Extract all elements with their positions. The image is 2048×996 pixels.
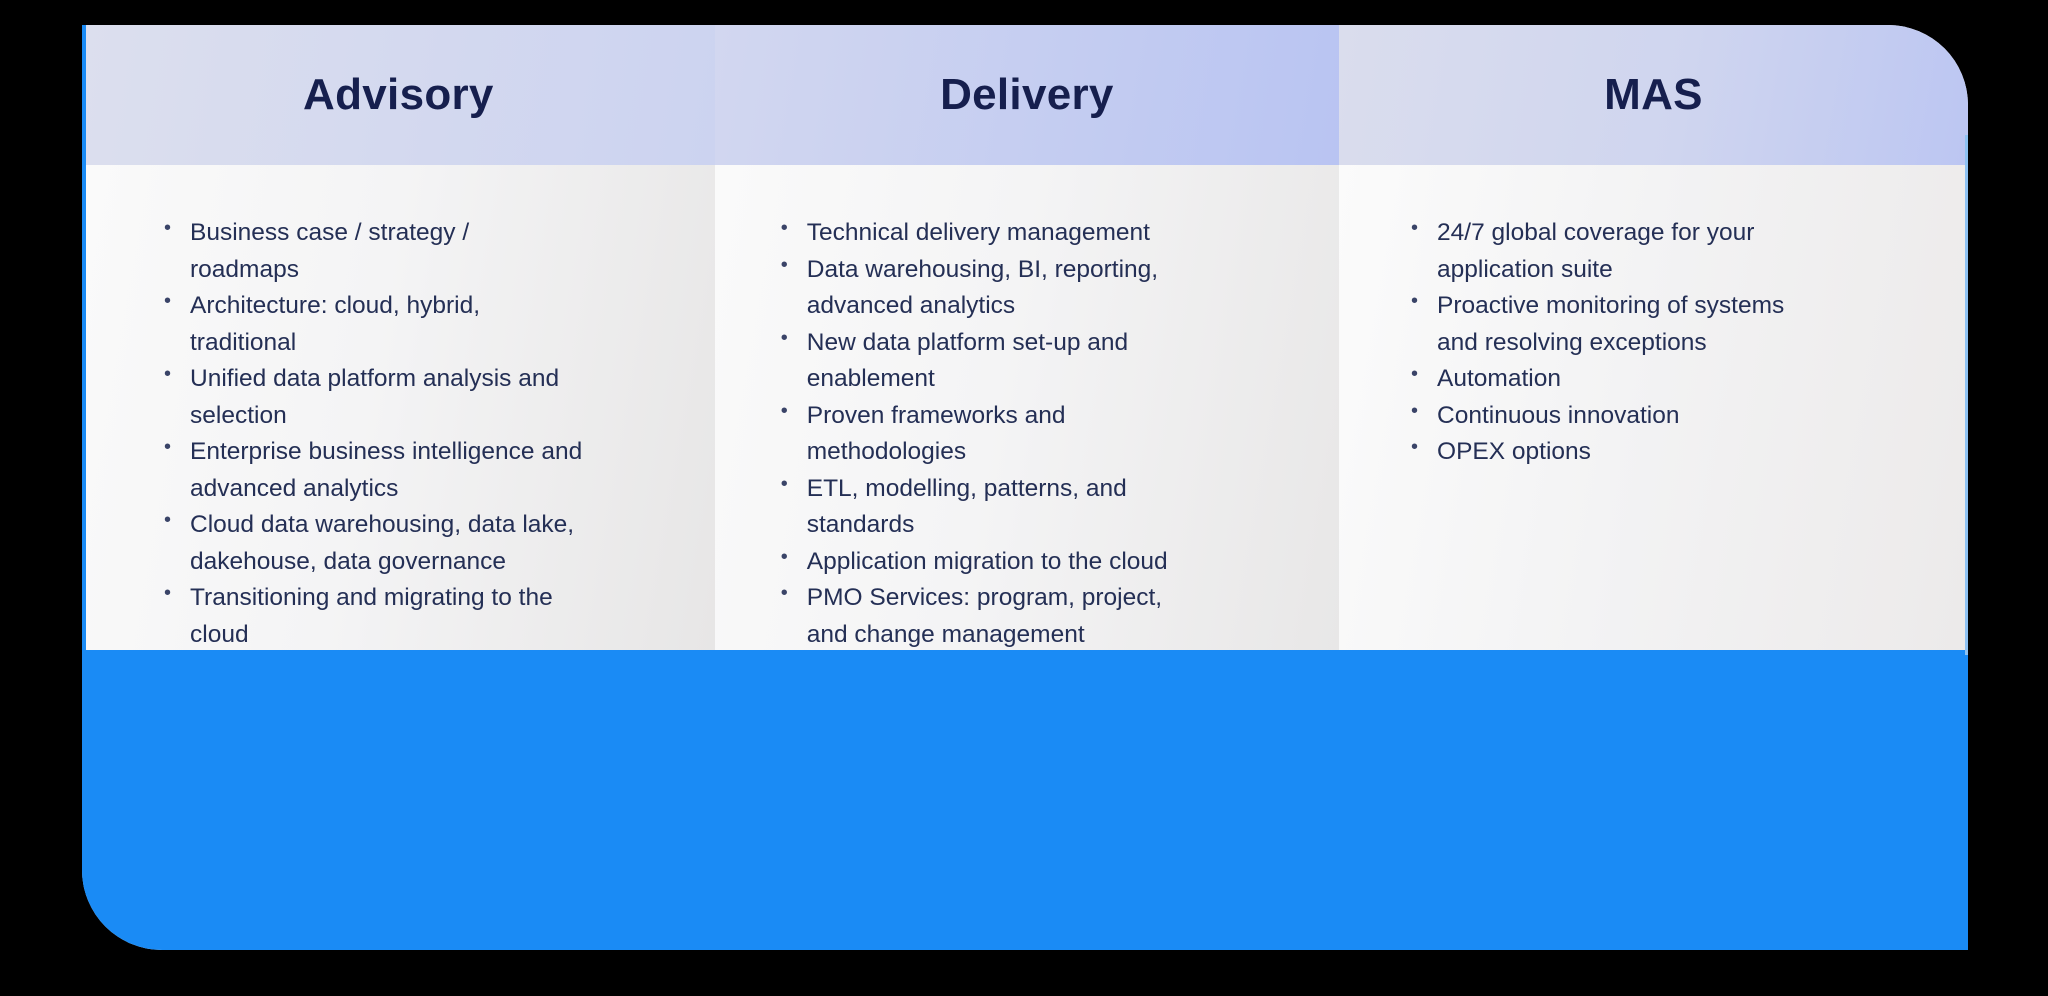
list-item: ETL, modelling, patterns, and standards (781, 471, 1181, 544)
list-item: Application migration to the cloud (781, 544, 1181, 581)
services-card: Advisory Business case / strategy / road… (82, 25, 1968, 950)
list-item: Automation (1411, 361, 1829, 398)
list-item: Continuous innovation (1411, 398, 1829, 435)
list-item: Data warehousing, BI, reporting, advance… (781, 252, 1181, 325)
column-body-mas: 24/7 global coverage for your applicatio… (1339, 165, 1968, 650)
bottom-accent-bar (82, 650, 1968, 950)
list-item: Technical delivery management (781, 215, 1181, 252)
list-item: Proactive monitoring of systems and reso… (1411, 288, 1829, 361)
list-item: PMO Services: program, project, and chan… (781, 580, 1181, 653)
list-item: Cloud data warehousing, data lake, dakeh… (164, 507, 584, 580)
column-header-delivery: Delivery (715, 25, 1339, 165)
service-columns: Advisory Business case / strategy / road… (82, 25, 1968, 650)
list-item: 24/7 global coverage for your applicatio… (1411, 215, 1829, 288)
advisory-bullet-list: Business case / strategy / roadmaps Arch… (164, 215, 584, 653)
service-column-delivery: Delivery Technical delivery management D… (715, 25, 1339, 650)
column-header-advisory: Advisory (82, 25, 715, 165)
column-body-advisory: Business case / strategy / roadmaps Arch… (82, 165, 715, 653)
list-item: Enterprise business intelligence and adv… (164, 434, 584, 507)
list-item: OPEX options (1411, 434, 1829, 471)
service-column-mas: MAS 24/7 global coverage for your applic… (1339, 25, 1968, 650)
right-accent-rail (1965, 135, 1968, 655)
list-item: Transitioning and migrating to the cloud (164, 580, 584, 653)
list-item: New data platform set-up and enablement (781, 325, 1181, 398)
left-accent-rail (82, 25, 86, 950)
service-column-advisory: Advisory Business case / strategy / road… (82, 25, 715, 650)
column-title-delivery: Delivery (940, 73, 1114, 117)
column-title-advisory: Advisory (303, 73, 494, 117)
list-item: Architecture: cloud, hybrid, traditional (164, 288, 584, 361)
screenshot-stage: Advisory Business case / strategy / road… (0, 0, 2048, 996)
column-header-mas: MAS (1339, 25, 1968, 165)
list-item: Proven frameworks and methodologies (781, 398, 1181, 471)
list-item: Business case / strategy / roadmaps (164, 215, 584, 288)
column-title-mas: MAS (1604, 73, 1703, 117)
list-item: Unified data platform analysis and selec… (164, 361, 584, 434)
delivery-bullet-list: Technical delivery management Data wareh… (781, 215, 1181, 653)
column-body-delivery: Technical delivery management Data wareh… (715, 165, 1339, 653)
mas-bullet-list: 24/7 global coverage for your applicatio… (1411, 215, 1829, 471)
